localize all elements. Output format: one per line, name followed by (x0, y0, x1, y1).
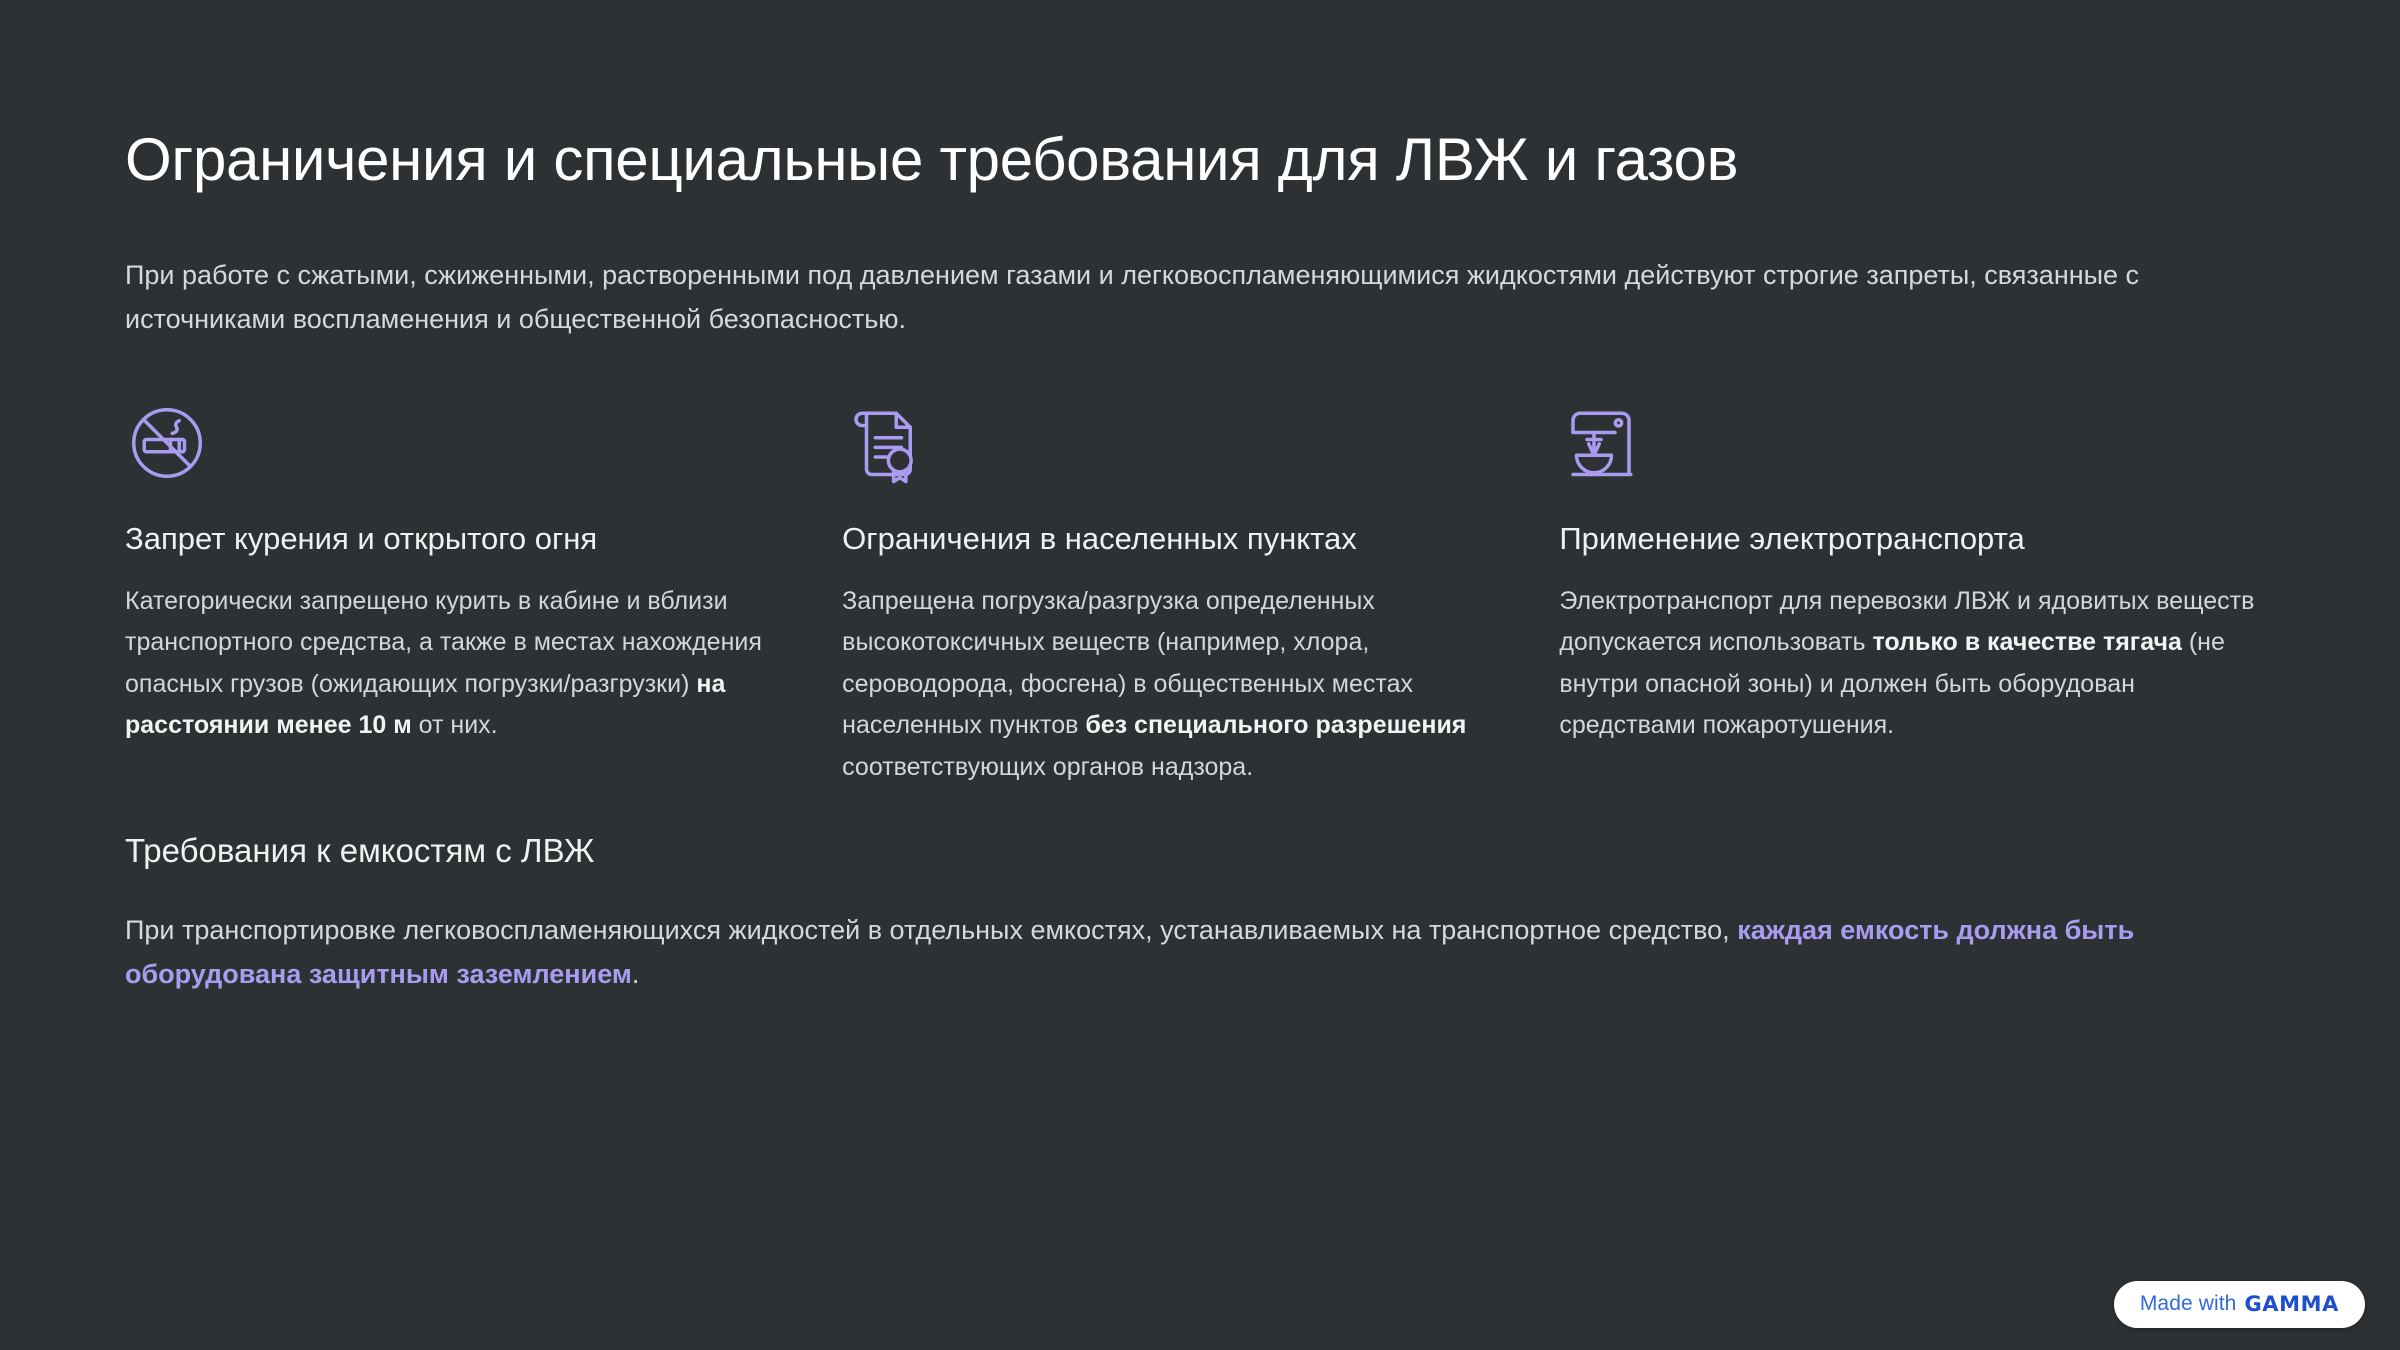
intro-paragraph: При работе с сжатыми, сжиженными, раство… (125, 254, 2195, 341)
body-part: При транспортировке легковоспламеняющихс… (125, 915, 1737, 945)
feature-column-body: Электротранспорт для перевозки ЛВЖ и ядо… (1559, 581, 2275, 747)
badge-made-with-label: Made with (2140, 1292, 2237, 1316)
section-body-containers: При транспортировке легковоспламеняющихс… (125, 909, 2275, 996)
stand-mixer-icon (1559, 389, 2275, 485)
feature-column-body: Категорически запрещено курить в кабине … (125, 581, 767, 747)
feature-column-smoking-ban: Запрет курения и открытого огня Категори… (125, 389, 842, 788)
feature-column-title: Ограничения в населенных пунктах (842, 519, 1484, 559)
page-title: Ограничения и специальные требования для… (125, 0, 2275, 196)
feature-columns: Запрет курения и открытого огня Категори… (125, 389, 2275, 788)
feature-column-title: Применение электротранспорта (1559, 519, 2275, 559)
badge-brand-label: GAMMA (2244, 1292, 2339, 1316)
feature-column-body: Запрещена погрузка/разгрузка определенны… (842, 581, 1484, 789)
body-part: соответствующих органов надзора. (842, 753, 1253, 781)
body-part: от них. (412, 711, 498, 739)
feature-column-settlement-limits: Ограничения в населенных пунктах Запреще… (842, 389, 1559, 788)
slide-root: Ограничения и специальные требования для… (0, 0, 2400, 1350)
body-part-bold: без специального разрешения (1085, 711, 1466, 739)
body-part-bold: только в качестве тягача (1873, 628, 2182, 656)
body-part: . (632, 959, 640, 989)
section-title-containers: Требования к емкостям с ЛВЖ (125, 830, 2275, 873)
made-with-gamma-badge[interactable]: Made with GAMMA (2114, 1281, 2365, 1328)
certificate-icon (842, 389, 1484, 485)
feature-column-electric-transport: Применение электротранспорта Электротран… (1559, 389, 2275, 788)
feature-column-title: Запрет курения и открытого огня (125, 519, 767, 559)
body-part: Категорически запрещено курить в кабине … (125, 587, 762, 698)
no-smoking-icon (125, 389, 767, 485)
